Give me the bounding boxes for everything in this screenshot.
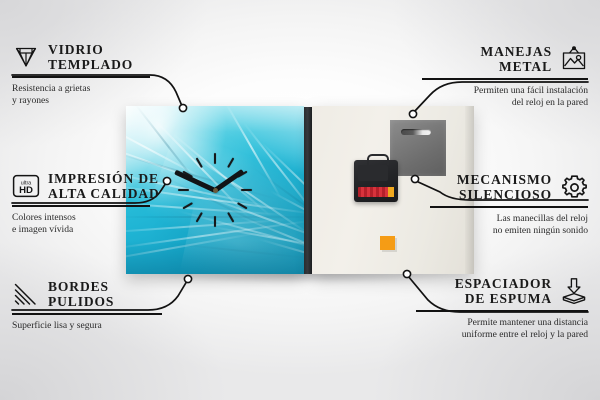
feature-desc-line1: Superficie lisa y segura [12, 320, 162, 332]
feature-title: ESPACIADOR DE ESPUMA [455, 276, 552, 306]
movement-hanger-hook [367, 154, 389, 165]
feature-rule [12, 313, 162, 315]
feature-espaciador-espuma[interactable]: ESPACIADOR DE ESPUMA Permite mantener un… [416, 276, 588, 341]
feature-desc-line2: del reloj en la pared [422, 97, 588, 109]
feature-heading: MECANISMO SILENCIOSO [430, 172, 588, 202]
feature-desc-line1: Las manecillas del reloj [430, 213, 588, 225]
feature-heading: VIDRIO TEMPLADO [12, 42, 150, 72]
product-image [126, 106, 474, 274]
feature-rule [422, 78, 588, 80]
feature-heading: MANEJAS METAL [422, 44, 588, 74]
foam-spacer-pad [380, 236, 395, 250]
feature-rule [430, 206, 588, 208]
picture-frame-hanger-icon [560, 46, 588, 72]
feature-desc-line2: e imagen vívida [12, 224, 150, 236]
feature-desc-line2: uniforme entre el reloj y la pared [416, 329, 588, 341]
feature-manejas-metal[interactable]: MANEJAS METAL Permiten una fácil instala… [422, 44, 588, 109]
polished-edge-icon [12, 281, 40, 307]
aa-battery [358, 187, 394, 197]
feature-mecanismo-silencioso[interactable]: MECANISMO SILENCIOSO Las manecillas del … [430, 172, 588, 237]
feature-rule [12, 76, 150, 78]
feature-desc-line2: y rayones [12, 95, 150, 107]
svg-text:HD: HD [19, 185, 33, 196]
battery-positive-tip [388, 187, 394, 197]
feature-rule [12, 205, 150, 207]
feature-desc-line1: Permite mantener una distancia [416, 317, 588, 329]
feature-title: VIDRIO TEMPLADO [48, 42, 133, 72]
feature-heading: ultra HD IMPRESIÓN DE ALTA CALIDAD [12, 171, 150, 201]
diamond-icon [12, 44, 40, 70]
feature-impresion-alta-calidad[interactable]: ultra HD IMPRESIÓN DE ALTA CALIDAD Color… [12, 171, 150, 236]
feature-bordes-pulidos[interactable]: BORDES PULIDOS Superficie lisa y segura [12, 279, 162, 332]
feature-desc-line2: no emiten ningún sonido [430, 225, 588, 237]
ultra-hd-icon: ultra HD [12, 173, 40, 199]
feature-vidrio-templado[interactable]: VIDRIO TEMPLADO Resistencia a grietas y … [12, 42, 150, 107]
movement-face-plate [358, 165, 388, 181]
feature-heading: BORDES PULIDOS [12, 279, 162, 309]
feature-desc-line1: Permiten una fácil instalación [422, 85, 588, 97]
foam-spacer-arrow-icon [560, 278, 588, 304]
clock-movement-mechanism [354, 160, 398, 202]
feature-heading: ESPACIADOR DE ESPUMA [416, 276, 588, 306]
gear-icon [560, 174, 588, 200]
feature-title: IMPRESIÓN DE ALTA CALIDAD [48, 171, 160, 201]
infographic-canvas: VIDRIO TEMPLADO Resistencia a grietas y … [0, 0, 600, 400]
feature-title: MECANISMO SILENCIOSO [457, 172, 552, 202]
hanger-slot [401, 129, 431, 135]
feature-desc-line1: Resistencia a grietas [12, 83, 150, 95]
clock-center-cap [213, 188, 218, 193]
clock-side-edge [304, 107, 312, 274]
feature-desc-line1: Colores intensos [12, 212, 150, 224]
feature-title: BORDES PULIDOS [48, 279, 114, 309]
feature-rule [416, 310, 588, 312]
metal-hanger-plate [390, 120, 446, 176]
feature-title: MANEJAS METAL [480, 44, 552, 74]
